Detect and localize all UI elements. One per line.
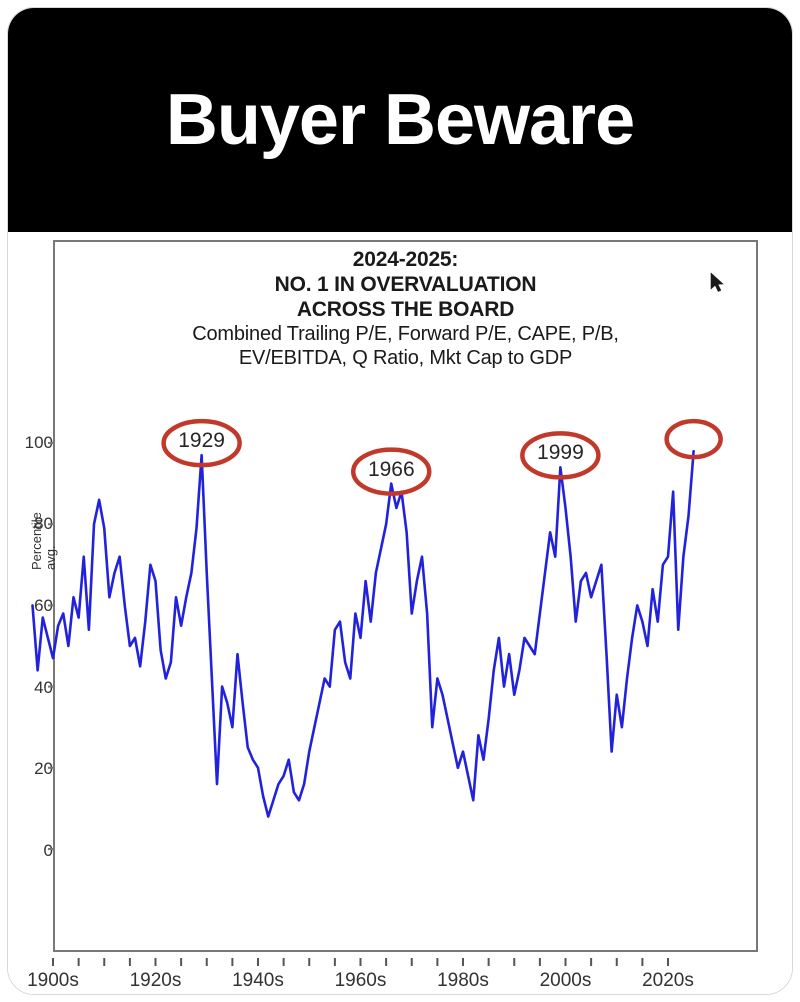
x-tick-label: 1900s	[8, 970, 98, 992]
annotation-label-1929: 1929	[157, 429, 247, 453]
chart-container: Percentile avg. 100 80 60 40 20 0 2024-2…	[8, 232, 792, 994]
headline-banner: Buyer Beware	[8, 8, 792, 232]
x-tick-label: 2020s	[623, 970, 713, 992]
annotation-label-1966: 1966	[346, 458, 436, 482]
screenshot-root: Buyer Beware Percentile avg. 100 80 60 4…	[0, 0, 800, 1002]
valuation-percentile-line	[33, 451, 694, 816]
x-tick-label: 1960s	[316, 970, 406, 992]
headline-title: Buyer Beware	[166, 84, 634, 156]
annotation-circles	[164, 421, 721, 493]
plot-svg	[8, 232, 792, 994]
x-tick-label: 1980s	[418, 970, 508, 992]
x-tick-label: 1920s	[111, 970, 201, 992]
x-tick-label: 1940s	[213, 970, 303, 992]
image-card: Buyer Beware Percentile avg. 100 80 60 4…	[8, 8, 792, 994]
axis-tick-marks	[48, 443, 668, 966]
x-tick-label: 2000s	[521, 970, 611, 992]
annotation-label-1999: 1999	[515, 441, 605, 465]
